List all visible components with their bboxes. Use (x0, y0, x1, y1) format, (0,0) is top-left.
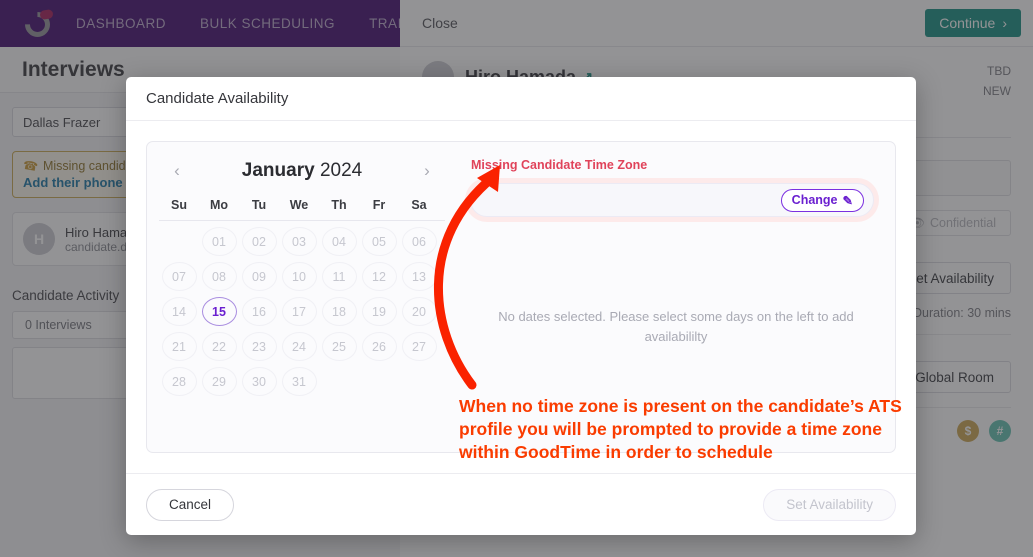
pencil-icon: ✎ (843, 193, 853, 208)
modal-body: ‹ January 2024 › Su Mo Tu We Th Fr (126, 121, 916, 473)
calendar-day-30[interactable]: 30 (242, 367, 277, 396)
weekday-header-row: Su Mo Tu We Th Fr Sa (159, 198, 445, 221)
timezone-field-wrapper: Change ✎ (465, 178, 879, 222)
calendar-day-10[interactable]: 10 (282, 262, 317, 291)
calendar-day-18[interactable]: 18 (322, 297, 357, 326)
modal-header: Candidate Availability (126, 77, 916, 121)
calendar-day-22[interactable]: 22 (202, 332, 237, 361)
calendar-day-empty (402, 367, 437, 396)
calendar-day-31[interactable]: 31 (282, 367, 317, 396)
calendar-header: ‹ January 2024 › (159, 160, 445, 182)
calendar-month: January (242, 160, 315, 181)
calendar-day-03[interactable]: 03 (282, 227, 317, 256)
availability-right-pane: Missing Candidate Time Zone Change ✎ No … (457, 142, 895, 452)
screen-root: DASHBOARD BULK SCHEDULING TRAINING Inter… (0, 0, 1033, 557)
calendar-day-13[interactable]: 13 (402, 262, 437, 291)
timezone-error-label: Missing Candidate Time Zone (471, 158, 879, 172)
calendar-pane: ‹ January 2024 › Su Mo Tu We Th Fr (147, 142, 457, 452)
weekday-mo: Mo (202, 198, 237, 212)
calendar-day-11[interactable]: 11 (322, 262, 357, 291)
calendar-day-07[interactable]: 07 (162, 262, 197, 291)
calendar-week-row: 07080910111213 (159, 262, 445, 291)
weekday-su: Su (162, 198, 197, 212)
calendar-day-16[interactable]: 16 (242, 297, 277, 326)
cancel-button[interactable]: Cancel (146, 489, 234, 521)
timezone-input[interactable]: Change ✎ (470, 183, 874, 217)
change-timezone-button[interactable]: Change ✎ (781, 189, 864, 212)
weekday-tu: Tu (242, 198, 277, 212)
calendar-day-28[interactable]: 28 (162, 367, 197, 396)
calendar-day-19[interactable]: 19 (362, 297, 397, 326)
calendar-week-row: 28293031 (159, 367, 445, 396)
calendar-day-27[interactable]: 27 (402, 332, 437, 361)
calendar-day-09[interactable]: 09 (242, 262, 277, 291)
calendar-day-04[interactable]: 04 (322, 227, 357, 256)
weekday-sa: Sa (402, 198, 437, 212)
calendar-day-26[interactable]: 26 (362, 332, 397, 361)
calendar-day-05[interactable]: 05 (362, 227, 397, 256)
calendar-day-01[interactable]: 01 (202, 227, 237, 256)
modal-footer: Cancel Set Availability (126, 473, 916, 535)
candidate-availability-modal: Candidate Availability ‹ January 2024 › … (126, 77, 916, 535)
calendar-day-24[interactable]: 24 (282, 332, 317, 361)
calendar-day-08[interactable]: 08 (202, 262, 237, 291)
calendar-day-12[interactable]: 12 (362, 262, 397, 291)
chevron-left-icon[interactable]: ‹ (167, 161, 187, 181)
calendar-day-02[interactable]: 02 (242, 227, 277, 256)
calendar-day-20[interactable]: 20 (402, 297, 437, 326)
submit-set-availability-button: Set Availability (763, 489, 896, 521)
calendar-year: 2024 (320, 160, 362, 181)
calendar-week-row: 21222324252627 (159, 332, 445, 361)
availability-panel: ‹ January 2024 › Su Mo Tu We Th Fr (146, 141, 896, 453)
change-label: Change (792, 193, 838, 207)
calendar-day-empty (322, 367, 357, 396)
calendar-month-year: January 2024 (242, 160, 362, 182)
calendar-day-15[interactable]: 15 (202, 297, 237, 326)
calendar-day-14[interactable]: 14 (162, 297, 197, 326)
calendar-grid: 0102030405060708091011121314151617181920… (159, 227, 445, 396)
calendar-day-empty (362, 367, 397, 396)
weekday-fr: Fr (362, 198, 397, 212)
calendar-day-25[interactable]: 25 (322, 332, 357, 361)
modal-title: Candidate Availability (146, 90, 288, 107)
calendar-day-06[interactable]: 06 (402, 227, 437, 256)
calendar-day-23[interactable]: 23 (242, 332, 277, 361)
weekday-th: Th (322, 198, 357, 212)
calendar-week-row: 010203040506 (159, 227, 445, 256)
calendar-day-17[interactable]: 17 (282, 297, 317, 326)
no-dates-message: No dates selected. Please select some da… (473, 307, 879, 347)
weekday-we: We (282, 198, 317, 212)
calendar-day-empty (162, 227, 197, 256)
calendar-day-21[interactable]: 21 (162, 332, 197, 361)
calendar-day-29[interactable]: 29 (202, 367, 237, 396)
chevron-right-icon[interactable]: › (417, 161, 437, 181)
calendar-week-row: 14151617181920 (159, 297, 445, 326)
